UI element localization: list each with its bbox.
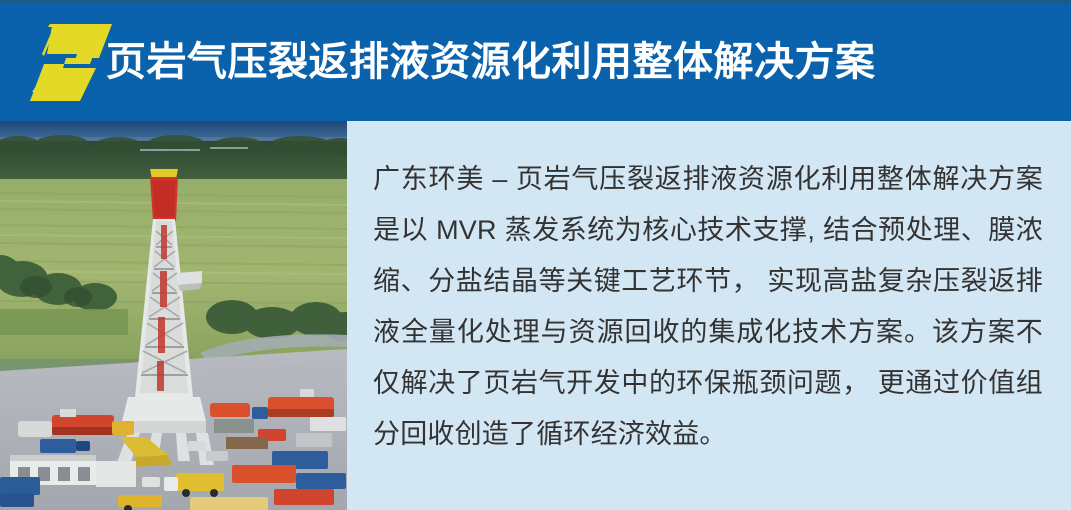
drilling-rig-photo — [0, 121, 347, 510]
numeral-two-icon — [30, 24, 112, 104]
drilling-rig-illustration — [0, 121, 347, 510]
solution-description-panel: 广东环美 – 页岩气压裂返排液资源化利用整体解决方案是以 MVR 蒸发系统为核心… — [347, 121, 1071, 510]
section-header-banner: 页岩气压裂返排液资源化利用整体解决方案 — [0, 0, 1071, 121]
solution-description-text: 广东环美 – 页岩气压裂返排液资源化利用整体解决方案是以 MVR 蒸发系统为核心… — [373, 154, 1043, 460]
solution-section-card: 页岩气压裂返排液资源化利用整体解决方案 — [0, 0, 1071, 510]
section-number-badge — [0, 2, 112, 122]
page-title: 页岩气压裂返排液资源化利用整体解决方案 — [106, 42, 876, 82]
